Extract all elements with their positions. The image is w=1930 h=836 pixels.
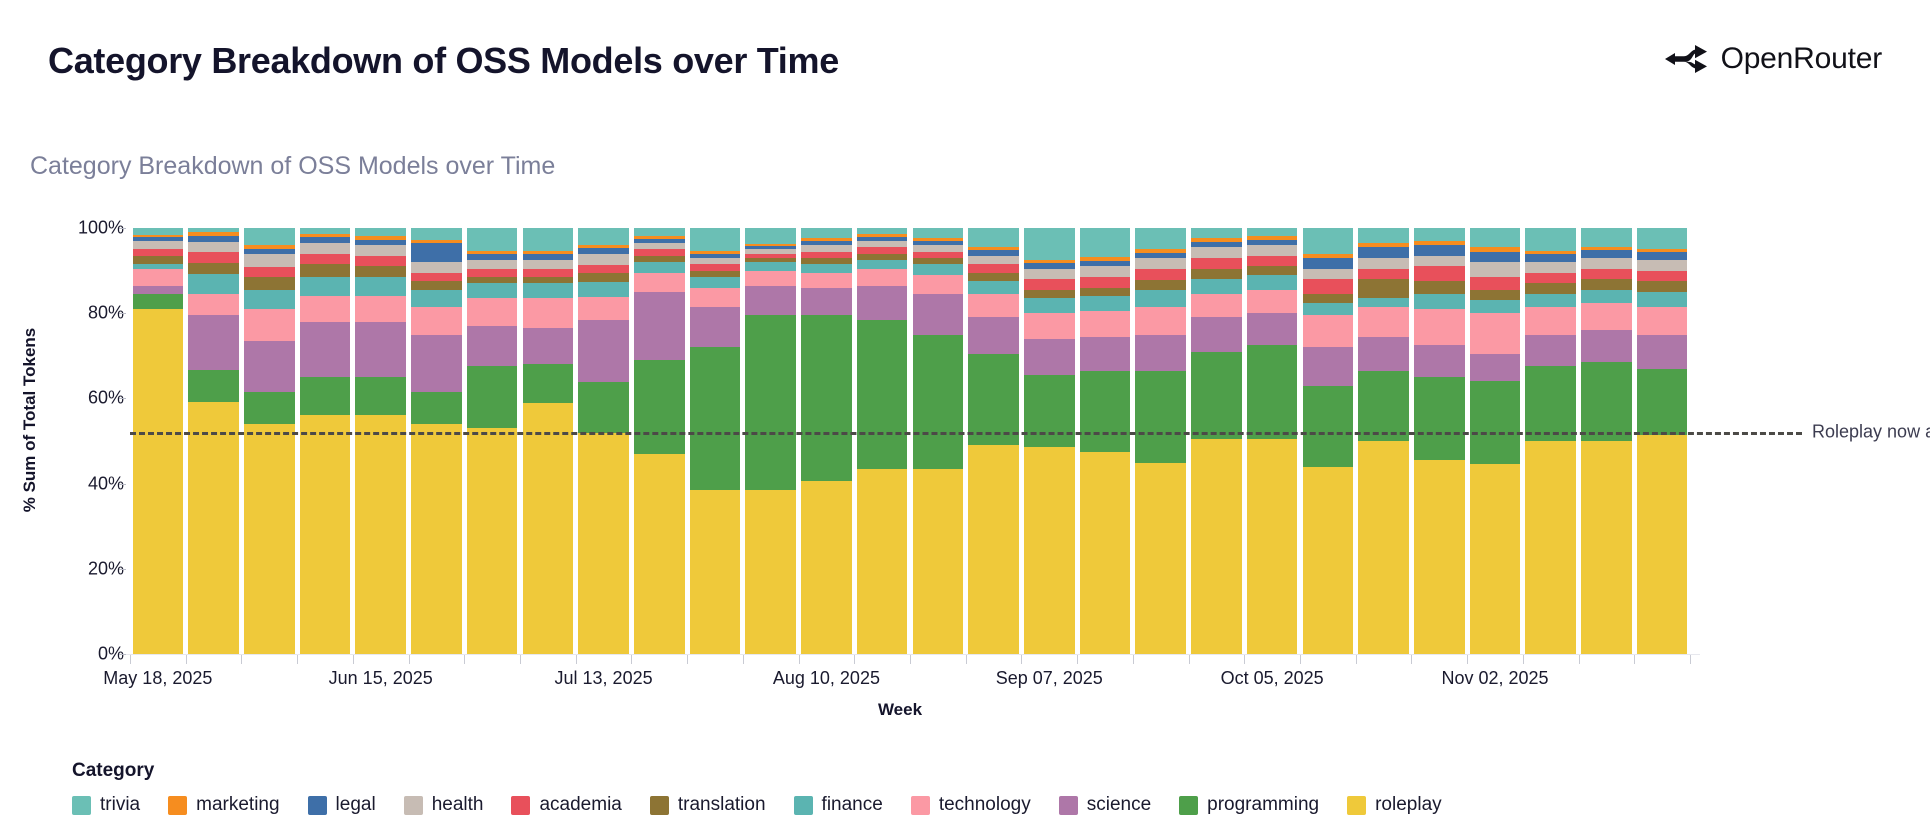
bar-segment-trivia[interactable] bbox=[1637, 228, 1688, 249]
reference-line bbox=[130, 432, 1802, 435]
bar-segment-technology[interactable] bbox=[857, 269, 908, 286]
bar-segment-translation[interactable] bbox=[133, 256, 184, 265]
bar-segment-roleplay[interactable] bbox=[1581, 441, 1632, 654]
bar-segment-health[interactable] bbox=[411, 262, 462, 273]
bar-column[interactable] bbox=[1358, 228, 1409, 654]
bar-segment-roleplay[interactable] bbox=[1637, 435, 1688, 654]
bar-segment-legal[interactable] bbox=[1358, 247, 1409, 258]
bar-segment-finance[interactable] bbox=[1191, 279, 1242, 294]
bar-segment-science[interactable] bbox=[523, 328, 574, 364]
bar-segment-technology[interactable] bbox=[1637, 307, 1688, 335]
bar-segment-translation[interactable] bbox=[1135, 280, 1186, 291]
bar-segment-roleplay[interactable] bbox=[133, 309, 184, 654]
bar-segment-science[interactable] bbox=[411, 335, 462, 393]
bar-segment-trivia[interactable] bbox=[634, 228, 685, 236]
bar-segment-roleplay[interactable] bbox=[467, 428, 518, 654]
bar-column[interactable] bbox=[801, 228, 852, 654]
bar-segment-science[interactable] bbox=[857, 286, 908, 320]
bar-segment-academia[interactable] bbox=[1191, 258, 1242, 269]
bar-segment-trivia[interactable] bbox=[133, 228, 184, 235]
bar-segment-health[interactable] bbox=[968, 256, 1019, 265]
bar-segment-science[interactable] bbox=[578, 320, 629, 382]
bar-segment-programming[interactable] bbox=[690, 347, 741, 490]
bar-segment-translation[interactable] bbox=[1470, 290, 1521, 301]
bar-segment-roleplay[interactable] bbox=[578, 433, 629, 654]
bar-column[interactable] bbox=[1470, 228, 1521, 654]
bar-segment-finance[interactable] bbox=[745, 262, 796, 271]
bar-segment-finance[interactable] bbox=[1024, 298, 1075, 313]
bar-segment-science[interactable] bbox=[355, 322, 406, 377]
bar-segment-science[interactable] bbox=[913, 294, 964, 334]
x-tick-mark bbox=[1021, 655, 1022, 664]
legend-item[interactable]: health bbox=[404, 794, 484, 816]
x-tick-label: Jun 15, 2025 bbox=[329, 668, 433, 689]
bar-column[interactable] bbox=[1581, 228, 1632, 654]
bar-segment-legal[interactable] bbox=[1470, 252, 1521, 263]
bar-segment-academia[interactable] bbox=[523, 269, 574, 278]
bar-segment-programming[interactable] bbox=[1581, 362, 1632, 441]
bar-segment-health[interactable] bbox=[1358, 258, 1409, 269]
bar-segment-translation[interactable] bbox=[1247, 266, 1298, 275]
bar-segment-programming[interactable] bbox=[1470, 381, 1521, 464]
bar-column[interactable] bbox=[1414, 228, 1465, 654]
bar-segment-roleplay[interactable] bbox=[523, 403, 574, 654]
bar-segment-trivia[interactable] bbox=[578, 228, 629, 245]
bar-segment-technology[interactable] bbox=[1191, 294, 1242, 317]
bar-segment-trivia[interactable] bbox=[1024, 228, 1075, 260]
bar-segment-legal[interactable] bbox=[1637, 252, 1688, 260]
bar-segment-health[interactable] bbox=[523, 260, 574, 269]
bar-segment-translation[interactable] bbox=[1358, 279, 1409, 298]
bar-segment-roleplay[interactable] bbox=[690, 490, 741, 654]
bar-segment-finance[interactable] bbox=[578, 282, 629, 297]
bar-segment-roleplay[interactable] bbox=[244, 424, 295, 654]
bar-segment-programming[interactable] bbox=[857, 320, 908, 469]
bar-segment-health[interactable] bbox=[1024, 269, 1075, 280]
bar-segment-programming[interactable] bbox=[1358, 371, 1409, 441]
bar-segment-roleplay[interactable] bbox=[634, 454, 685, 654]
bar-segment-academia[interactable] bbox=[1024, 279, 1075, 290]
bar-segment-programming[interactable] bbox=[300, 377, 351, 415]
x-tick-label: May 18, 2025 bbox=[103, 668, 212, 689]
bar-segment-trivia[interactable] bbox=[1470, 228, 1521, 247]
bar-segment-finance[interactable] bbox=[188, 274, 239, 294]
bar-column[interactable] bbox=[1247, 228, 1298, 654]
bar-segment-trivia[interactable] bbox=[355, 228, 406, 236]
bar-segment-technology[interactable] bbox=[690, 288, 741, 307]
bar-segment-programming[interactable] bbox=[1637, 369, 1688, 435]
bar-segment-finance[interactable] bbox=[968, 281, 1019, 294]
bar-segment-science[interactable] bbox=[1581, 330, 1632, 362]
bar-column[interactable] bbox=[1135, 228, 1186, 654]
bar-column[interactable] bbox=[634, 228, 685, 654]
bar-segment-health[interactable] bbox=[355, 245, 406, 256]
bar-segment-technology[interactable] bbox=[1470, 313, 1521, 353]
bar-segment-technology[interactable] bbox=[968, 294, 1019, 317]
bar-column[interactable] bbox=[913, 228, 964, 654]
bar-segment-technology[interactable] bbox=[1581, 303, 1632, 331]
bar-segment-trivia[interactable] bbox=[1191, 228, 1242, 238]
y-tick-mark bbox=[119, 313, 126, 314]
bar-segment-technology[interactable] bbox=[411, 307, 462, 335]
bar-segment-translation[interactable] bbox=[1080, 288, 1131, 297]
bar-segment-science[interactable] bbox=[1414, 345, 1465, 377]
bar-column[interactable] bbox=[690, 228, 741, 654]
bar-segment-technology[interactable] bbox=[467, 298, 518, 326]
bar-segment-roleplay[interactable] bbox=[1191, 439, 1242, 654]
x-tick-mark bbox=[743, 655, 744, 664]
bar-segment-science[interactable] bbox=[133, 286, 184, 295]
bar-segment-health[interactable] bbox=[133, 241, 184, 250]
bar-segment-science[interactable] bbox=[1080, 337, 1131, 371]
bar-segment-finance[interactable] bbox=[1470, 300, 1521, 313]
bar-segment-technology[interactable] bbox=[1525, 307, 1576, 335]
bar-segment-roleplay[interactable] bbox=[801, 481, 852, 654]
bar-segment-technology[interactable] bbox=[1080, 311, 1131, 337]
bar-segment-trivia[interactable] bbox=[1080, 228, 1131, 257]
bar-segment-roleplay[interactable] bbox=[1135, 463, 1186, 655]
bar-segment-science[interactable] bbox=[244, 341, 295, 392]
bar-segment-roleplay[interactable] bbox=[968, 445, 1019, 654]
bar-segment-trivia[interactable] bbox=[1414, 228, 1465, 241]
bar-segment-academia[interactable] bbox=[188, 252, 239, 263]
bar-segment-roleplay[interactable] bbox=[300, 415, 351, 654]
bar-segment-science[interactable] bbox=[467, 326, 518, 366]
bar-segment-health[interactable] bbox=[300, 243, 351, 254]
bar-segment-legal[interactable] bbox=[1414, 245, 1465, 256]
bar-column[interactable] bbox=[1525, 228, 1576, 654]
bar-segment-programming[interactable] bbox=[133, 294, 184, 309]
bar-column[interactable] bbox=[857, 228, 908, 654]
bar-segment-trivia[interactable] bbox=[523, 228, 574, 251]
bar-segment-technology[interactable] bbox=[244, 309, 295, 341]
bar-segment-health[interactable] bbox=[1581, 258, 1632, 269]
bar-column[interactable] bbox=[1637, 228, 1688, 654]
bar-segment-roleplay[interactable] bbox=[745, 490, 796, 654]
bar-segment-roleplay[interactable] bbox=[913, 469, 964, 654]
bar-segment-finance[interactable] bbox=[857, 260, 908, 269]
bar-segment-programming[interactable] bbox=[1080, 371, 1131, 452]
bar-segment-roleplay[interactable] bbox=[355, 415, 406, 654]
bar-segment-trivia[interactable] bbox=[745, 228, 796, 244]
bar-segment-roleplay[interactable] bbox=[188, 402, 239, 654]
bar-segment-finance[interactable] bbox=[355, 277, 406, 296]
x-tick-label: Oct 05, 2025 bbox=[1221, 668, 1324, 689]
bar-segment-academia[interactable] bbox=[1637, 271, 1688, 282]
bar-segment-science[interactable] bbox=[801, 288, 852, 316]
bar-segment-trivia[interactable] bbox=[244, 228, 295, 245]
bar-segment-academia[interactable] bbox=[1247, 256, 1298, 267]
bar-segment-translation[interactable] bbox=[188, 263, 239, 274]
bar-column[interactable] bbox=[1303, 228, 1354, 654]
bar-segment-programming[interactable] bbox=[1525, 366, 1576, 441]
bar-segment-academia[interactable] bbox=[968, 264, 1019, 273]
bar-segment-academia[interactable] bbox=[1358, 269, 1409, 280]
bar-segment-translation[interactable] bbox=[1303, 294, 1354, 303]
bar-segment-technology[interactable] bbox=[801, 273, 852, 288]
bar-segment-programming[interactable] bbox=[411, 392, 462, 424]
bar-segment-science[interactable] bbox=[188, 315, 239, 369]
bar-segment-roleplay[interactable] bbox=[1303, 467, 1354, 654]
bar-segment-health[interactable] bbox=[578, 254, 629, 265]
bar-segment-programming[interactable] bbox=[913, 335, 964, 469]
bar-column[interactable] bbox=[1191, 228, 1242, 654]
bar-segment-science[interactable] bbox=[968, 317, 1019, 353]
bar-column[interactable] bbox=[467, 228, 518, 654]
legend-swatch-roleplay bbox=[1347, 796, 1366, 815]
page-header: Category Breakdown of OSS Models over Ti… bbox=[0, 0, 1930, 110]
x-tick-mark bbox=[799, 655, 800, 664]
bar-segment-finance[interactable] bbox=[1303, 303, 1354, 316]
bar-segment-legal[interactable] bbox=[1303, 258, 1354, 269]
bar-segment-technology[interactable] bbox=[1414, 309, 1465, 345]
bar-segment-programming[interactable] bbox=[1303, 386, 1354, 467]
legend-item[interactable]: trivia bbox=[72, 794, 140, 816]
bar-segment-trivia[interactable] bbox=[1303, 228, 1354, 254]
x-tick-mark bbox=[1690, 655, 1691, 664]
bar-segment-finance[interactable] bbox=[801, 264, 852, 273]
bar-segment-technology[interactable] bbox=[355, 296, 406, 322]
bar-column[interactable] bbox=[133, 228, 184, 654]
bar-segment-translation[interactable] bbox=[411, 281, 462, 290]
y-tick-mark bbox=[119, 228, 126, 229]
bar-segment-finance[interactable] bbox=[1247, 275, 1298, 290]
bar-segment-programming[interactable] bbox=[1414, 377, 1465, 460]
bar-segment-finance[interactable] bbox=[411, 290, 462, 307]
bar-segment-technology[interactable] bbox=[745, 271, 796, 286]
bar-segment-health[interactable] bbox=[1303, 269, 1354, 280]
bar-segment-roleplay[interactable] bbox=[1414, 460, 1465, 654]
x-tick-mark bbox=[186, 655, 187, 664]
bar-segment-technology[interactable] bbox=[523, 298, 574, 328]
x-tick-mark bbox=[576, 655, 577, 664]
legend-label: roleplay bbox=[1375, 794, 1442, 816]
bar-segment-translation[interactable] bbox=[1525, 283, 1576, 294]
bar-segment-translation[interactable] bbox=[968, 273, 1019, 282]
bar-segment-programming[interactable] bbox=[1191, 352, 1242, 439]
bar-segment-trivia[interactable] bbox=[968, 228, 1019, 247]
bar-column[interactable] bbox=[188, 228, 239, 654]
bar-segment-technology[interactable] bbox=[1024, 313, 1075, 339]
bar-segment-trivia[interactable] bbox=[467, 228, 518, 251]
bar-segment-technology[interactable] bbox=[1247, 290, 1298, 313]
bar-segment-academia[interactable] bbox=[467, 269, 518, 278]
bar-segment-health[interactable] bbox=[188, 242, 239, 253]
bar-segment-finance[interactable] bbox=[467, 283, 518, 298]
y-axis-title: % Sum of Total Tokens bbox=[20, 220, 40, 620]
bar-column[interactable] bbox=[355, 228, 406, 654]
bar-segment-health[interactable] bbox=[1135, 258, 1186, 269]
bar-segment-science[interactable] bbox=[300, 322, 351, 377]
bar-segment-translation[interactable] bbox=[578, 273, 629, 282]
bar-segment-translation[interactable] bbox=[1024, 290, 1075, 299]
bar-segment-translation[interactable] bbox=[1637, 281, 1688, 292]
bar-segment-finance[interactable] bbox=[1637, 292, 1688, 307]
bar-segment-academia[interactable] bbox=[244, 267, 295, 278]
bar-segment-programming[interactable] bbox=[634, 360, 685, 454]
bar-segment-technology[interactable] bbox=[578, 297, 629, 320]
bar-segment-health[interactable] bbox=[244, 254, 295, 267]
bar-segment-science[interactable] bbox=[1024, 339, 1075, 375]
bar-segment-health[interactable] bbox=[1191, 247, 1242, 258]
bar-segment-programming[interactable] bbox=[523, 364, 574, 402]
bar-segment-programming[interactable] bbox=[1247, 345, 1298, 439]
bar-segment-programming[interactable] bbox=[745, 315, 796, 490]
bar-segment-academia[interactable] bbox=[1470, 277, 1521, 290]
bar-segment-trivia[interactable] bbox=[1525, 228, 1576, 251]
bar-segment-finance[interactable] bbox=[634, 262, 685, 273]
legend-swatch-translation bbox=[650, 796, 669, 815]
bar-segment-health[interactable] bbox=[1525, 262, 1576, 273]
bar-segment-technology[interactable] bbox=[1135, 307, 1186, 335]
legend-item[interactable]: academia bbox=[511, 794, 621, 816]
bar-column[interactable] bbox=[968, 228, 1019, 654]
bar-segment-trivia[interactable] bbox=[1135, 228, 1186, 249]
bar-segment-academia[interactable] bbox=[578, 265, 629, 274]
x-tick-mark bbox=[464, 655, 465, 664]
bar-segment-technology[interactable] bbox=[1303, 315, 1354, 347]
bar-segment-finance[interactable] bbox=[913, 264, 964, 275]
bar-segment-health[interactable] bbox=[1247, 245, 1298, 256]
bar-segment-roleplay[interactable] bbox=[1247, 439, 1298, 654]
legend-item[interactable]: programming bbox=[1179, 794, 1319, 816]
bar-segment-translation[interactable] bbox=[1191, 269, 1242, 280]
bar-segment-programming[interactable] bbox=[1024, 375, 1075, 447]
bar-column[interactable] bbox=[523, 228, 574, 654]
bar-segment-trivia[interactable] bbox=[411, 228, 462, 240]
bar-segment-roleplay[interactable] bbox=[1525, 441, 1576, 654]
bar-column[interactable] bbox=[244, 228, 295, 654]
legend-item[interactable]: finance bbox=[794, 794, 883, 816]
bar-segment-trivia[interactable] bbox=[1581, 228, 1632, 247]
bar-segment-programming[interactable] bbox=[188, 370, 239, 403]
bar-segment-health[interactable] bbox=[1470, 262, 1521, 277]
bar-segment-finance[interactable] bbox=[1358, 298, 1409, 307]
legend-item[interactable]: legal bbox=[308, 794, 376, 816]
bar-column[interactable] bbox=[411, 228, 462, 654]
bar-segment-health[interactable] bbox=[467, 260, 518, 269]
bar-segment-science[interactable] bbox=[1637, 335, 1688, 369]
bar-segment-science[interactable] bbox=[1191, 317, 1242, 351]
bar-segment-technology[interactable] bbox=[1358, 307, 1409, 337]
bar-segment-programming[interactable] bbox=[1135, 371, 1186, 462]
chart-page: Category Breakdown of OSS Models over Ti… bbox=[0, 0, 1930, 836]
bar-column[interactable] bbox=[745, 228, 796, 654]
bar-segment-technology[interactable] bbox=[300, 296, 351, 322]
bar-segment-legal[interactable] bbox=[1525, 254, 1576, 262]
bar-column[interactable] bbox=[578, 228, 629, 654]
bar-segment-finance[interactable] bbox=[244, 290, 295, 309]
bar-segment-health[interactable] bbox=[1080, 266, 1131, 277]
bar-segment-academia[interactable] bbox=[1581, 269, 1632, 280]
bar-segment-finance[interactable] bbox=[1525, 294, 1576, 307]
legend-item[interactable]: translation bbox=[650, 794, 766, 816]
legend-item[interactable]: roleplay bbox=[1347, 794, 1442, 816]
bar-segment-trivia[interactable] bbox=[913, 228, 964, 238]
bar-segment-academia[interactable] bbox=[1414, 266, 1465, 281]
legend-swatch-health bbox=[404, 796, 423, 815]
bar-column[interactable] bbox=[1024, 228, 1075, 654]
bar-segment-academia[interactable] bbox=[1080, 277, 1131, 288]
bar-segment-academia[interactable] bbox=[300, 254, 351, 265]
bar-segment-programming[interactable] bbox=[355, 377, 406, 415]
bar-segment-legal[interactable] bbox=[1581, 250, 1632, 258]
legend-swatch-programming bbox=[1179, 796, 1198, 815]
bar-segment-health[interactable] bbox=[1637, 260, 1688, 271]
bar-segment-roleplay[interactable] bbox=[1080, 452, 1131, 654]
bar-segment-roleplay[interactable] bbox=[1358, 441, 1409, 654]
bar-segment-technology[interactable] bbox=[913, 275, 964, 294]
bar-segment-finance[interactable] bbox=[1080, 296, 1131, 311]
bar-segment-science[interactable] bbox=[1135, 335, 1186, 371]
bar-segment-finance[interactable] bbox=[1135, 290, 1186, 307]
bar-segment-academia[interactable] bbox=[1303, 279, 1354, 294]
bar-segment-science[interactable] bbox=[1303, 347, 1354, 385]
bar-segment-legal[interactable] bbox=[411, 243, 462, 262]
bar-segment-finance[interactable] bbox=[1581, 290, 1632, 303]
legend-swatch-academia bbox=[511, 796, 530, 815]
legend-item[interactable]: science bbox=[1059, 794, 1151, 816]
bar-segment-science[interactable] bbox=[1358, 337, 1409, 371]
bar-segment-finance[interactable] bbox=[690, 277, 741, 288]
bar-segment-roleplay[interactable] bbox=[1470, 464, 1521, 654]
bar-segment-roleplay[interactable] bbox=[857, 469, 908, 654]
x-axis-title: Week bbox=[0, 700, 1800, 720]
bar-segment-trivia[interactable] bbox=[690, 228, 741, 251]
bar-segment-technology[interactable] bbox=[133, 269, 184, 286]
legend-item[interactable]: marketing bbox=[168, 794, 279, 816]
bar-segment-finance[interactable] bbox=[1414, 294, 1465, 309]
page-title: Category Breakdown of OSS Models over Ti… bbox=[48, 40, 839, 82]
bar-segment-technology[interactable] bbox=[188, 294, 239, 316]
bar-column[interactable] bbox=[300, 228, 351, 654]
bar-segment-trivia[interactable] bbox=[1358, 228, 1409, 243]
bar-segment-finance[interactable] bbox=[300, 277, 351, 296]
bar-segment-trivia[interactable] bbox=[1247, 228, 1298, 236]
bar-segment-translation[interactable] bbox=[1581, 279, 1632, 290]
bar-segment-translation[interactable] bbox=[244, 277, 295, 290]
bar-segment-science[interactable] bbox=[1247, 313, 1298, 345]
bar-segment-academia[interactable] bbox=[1525, 273, 1576, 284]
bar-segment-science[interactable] bbox=[690, 307, 741, 347]
bar-segment-programming[interactable] bbox=[801, 315, 852, 481]
bar-segment-programming[interactable] bbox=[578, 382, 629, 433]
bar-segment-academia[interactable] bbox=[411, 273, 462, 282]
bar-segment-science[interactable] bbox=[1470, 354, 1521, 382]
bar-segment-academia[interactable] bbox=[1135, 269, 1186, 280]
bar-column[interactable] bbox=[1080, 228, 1131, 654]
legend-swatch-marketing bbox=[168, 796, 187, 815]
bar-segment-science[interactable] bbox=[634, 292, 685, 360]
legend-item[interactable]: technology bbox=[911, 794, 1031, 816]
bar-segment-translation[interactable] bbox=[300, 264, 351, 277]
bar-segment-roleplay[interactable] bbox=[411, 424, 462, 654]
bar-segment-roleplay[interactable] bbox=[1024, 447, 1075, 654]
bar-segment-programming[interactable] bbox=[244, 392, 295, 424]
bar-segment-programming[interactable] bbox=[467, 366, 518, 428]
bar-segment-trivia[interactable] bbox=[801, 228, 852, 238]
x-tick-label: Sep 07, 2025 bbox=[996, 668, 1103, 689]
bar-segment-translation[interactable] bbox=[1414, 281, 1465, 294]
x-tick-mark bbox=[1356, 655, 1357, 664]
bar-segment-technology[interactable] bbox=[634, 273, 685, 292]
bar-segment-translation[interactable] bbox=[355, 266, 406, 277]
bar-segment-finance[interactable] bbox=[523, 283, 574, 298]
bar-segment-health[interactable] bbox=[1414, 256, 1465, 267]
bar-segment-academia[interactable] bbox=[355, 256, 406, 267]
bar-segment-science[interactable] bbox=[1525, 335, 1576, 367]
bar-segment-science[interactable] bbox=[745, 286, 796, 316]
